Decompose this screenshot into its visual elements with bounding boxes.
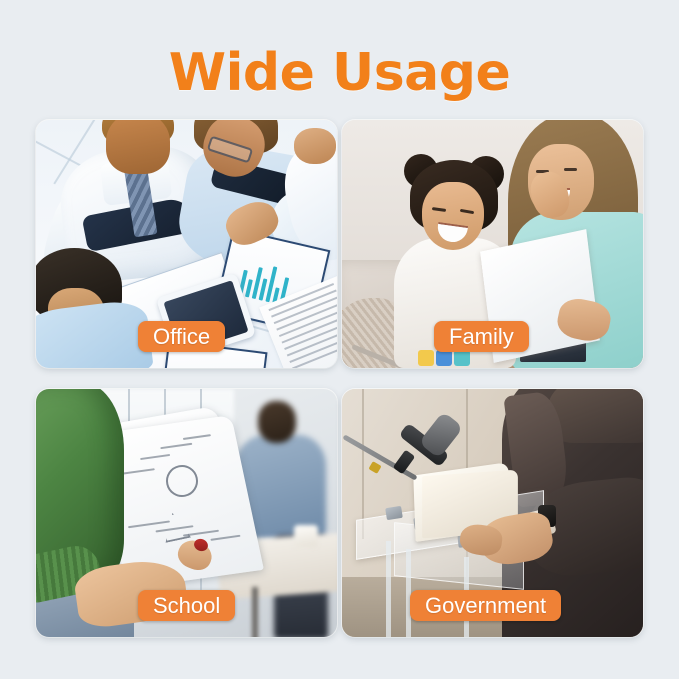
page-title: Wide Usage [0,46,679,101]
usage-card-grid: Office [36,120,643,637]
usage-card-government[interactable]: Government [342,389,643,637]
child-blue-shirt [36,298,154,368]
table-leg [252,587,258,637]
usage-card-office[interactable]: Office [36,120,337,368]
wide-usage-banner: Wide Usage [0,0,679,679]
background-student-head [258,401,296,443]
worksheet-triangle-mark [160,511,187,539]
man-head [106,120,170,174]
card-label-government: Government [410,590,561,621]
usage-card-family[interactable]: Family [342,120,643,368]
usage-card-school[interactable]: School [36,389,337,637]
toy-block [436,350,452,366]
toy-block [454,350,470,366]
card-label-office: Office [138,321,225,352]
toy-block [418,350,434,366]
wall-panel-line [362,389,364,539]
podium-bracket [385,506,403,520]
card-label-family: Family [434,321,529,352]
mother-eye [564,168,577,171]
third-person-hand [294,128,336,164]
paper-cup [294,525,318,547]
card-label-school: School [138,590,235,621]
podium-post [386,541,391,637]
